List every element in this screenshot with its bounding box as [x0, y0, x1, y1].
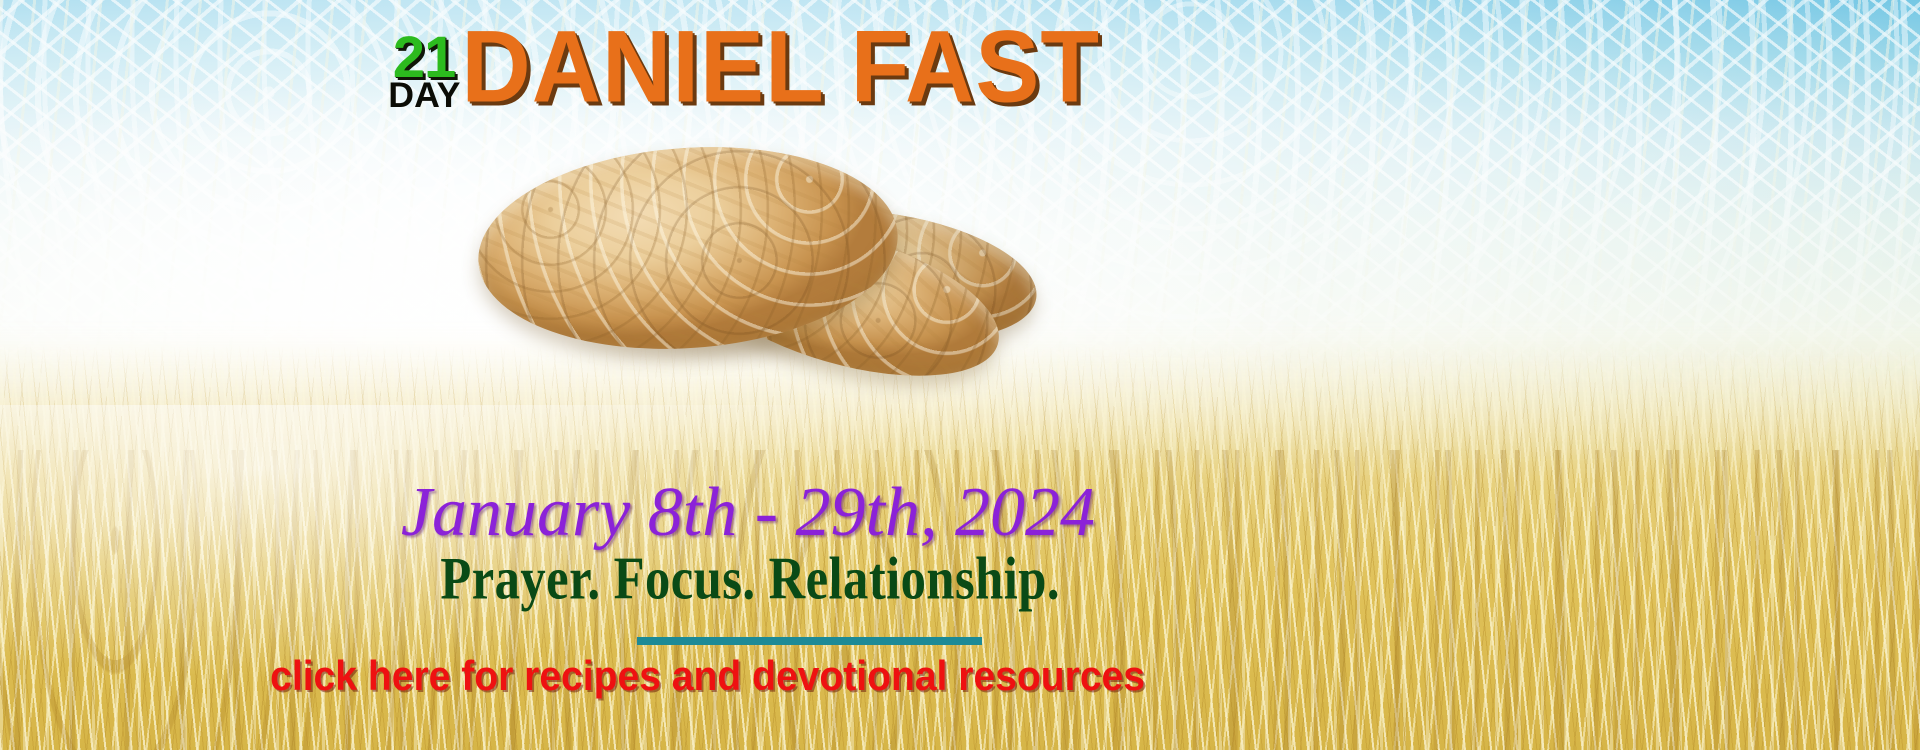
event-tagline: Prayer. Focus. Relationship.	[85, 548, 1060, 609]
day-count-badge: 21 DAY	[389, 34, 460, 110]
banner-headline: 21 DAY DANIEL FAST	[0, 26, 1100, 114]
teal-divider	[637, 637, 982, 645]
daniel-fast-banner: 21 DAY DANIEL FAST January 8th - 29th, 2…	[0, 0, 1920, 750]
cta-link-recipes-and-devotionals[interactable]: click here for recipes and devotional re…	[80, 655, 1145, 697]
event-date-range: January 8th - 29th, 2024	[0, 478, 1095, 548]
flatbread-image	[470, 138, 1070, 400]
banner-content: 21 DAY DANIEL FAST January 8th - 29th, 2…	[0, 0, 1920, 750]
page-title: DANIEL FAST	[461, 21, 1100, 115]
day-count-label: DAY	[388, 82, 460, 111]
day-count-number: 21	[393, 34, 456, 82]
